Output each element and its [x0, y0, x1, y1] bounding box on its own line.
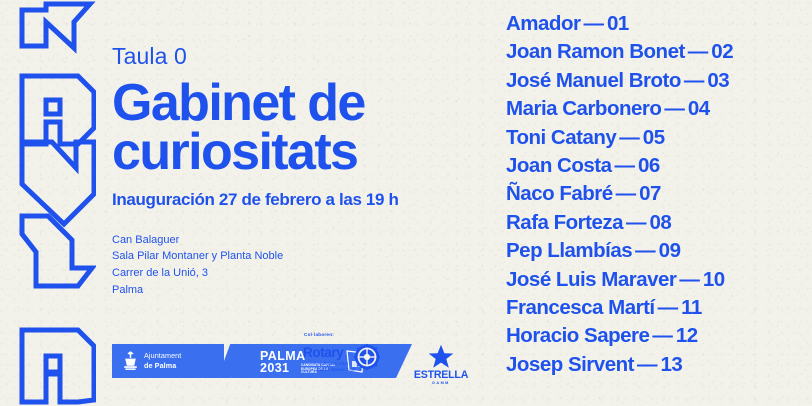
artist-number: 08: [650, 211, 672, 234]
collaborator-logos: Rotary: [303, 344, 483, 380]
venue-address-block: Can Balaguer Sala Pilar Montaner y Plant…: [112, 232, 482, 299]
venue-line: Sala Pilar Montaner y Planta Noble: [112, 248, 482, 265]
artist-dash: —: [658, 296, 679, 319]
artist-dash: —: [619, 126, 640, 149]
artist-row: Pep Llambías—09: [506, 237, 806, 265]
left-text-column: Taula 0 Gabinet de curiositats Inaugurac…: [112, 44, 482, 299]
artist-row: Joan Ramon Bonet—02: [506, 38, 806, 66]
palma-2031-logo: PALMA 2031 CANDIDATA CAPITAL EUROPEA DE …: [260, 351, 306, 374]
star-icon: [428, 344, 454, 369]
artist-dash: —: [688, 40, 709, 63]
rotary-wordmark: Rotary: [303, 346, 343, 360]
artist-number: 07: [639, 182, 661, 205]
rotary-subtitle: Rotary Club Palma Ramón Llull: [303, 361, 369, 372]
artist-number: 09: [659, 239, 681, 262]
collaborators-label: Col·laboren:: [304, 332, 483, 337]
artist-dash: —: [679, 268, 700, 291]
artist-name: Joan Costa: [506, 154, 612, 177]
ajuntament-line1: Ajuntament: [144, 351, 181, 360]
artist-name: Maria Carbonero: [506, 97, 661, 120]
artist-dash: —: [664, 97, 685, 120]
artist-number: 13: [660, 353, 682, 376]
artist-name: Francesca Martí: [506, 296, 655, 319]
rotary-club-logo: Rotary: [303, 344, 381, 378]
palma-crest-icon: [122, 350, 139, 371]
artist-dash: —: [635, 239, 656, 262]
artist-row: Horacio Sapere—12: [506, 322, 806, 350]
artist-name: Pep Llambías: [506, 239, 632, 262]
artist-name: Josep Sirvent: [506, 353, 634, 376]
artist-number: 10: [703, 268, 725, 291]
artist-row: Ñaco Fabré—07: [506, 180, 806, 208]
artist-name: Rafa Forteza: [506, 211, 623, 234]
artist-row: Francesca Martí—11: [506, 294, 806, 322]
artist-dash: —: [652, 324, 673, 347]
artist-number: 12: [676, 324, 698, 347]
opening-subtitle: Inauguración 27 de febrero a las 19 h: [112, 191, 482, 210]
artist-number: 01: [607, 12, 629, 35]
artist-row: Maria Carbonero—04: [506, 95, 806, 123]
artist-row: Rafa Forteza—08: [506, 209, 806, 237]
estrella-damm-logo: ESTRELLA DAMM: [411, 344, 471, 380]
artist-number: 06: [638, 154, 660, 177]
kicker-taula-0: Taula 0: [112, 44, 482, 69]
ajuntament-wordmark: Ajuntament de Palma: [144, 351, 181, 370]
artist-list: Amador—01 Joan Ramon Bonet—02 José Manue…: [506, 10, 806, 379]
poster-canvas: Taula 0 Gabinet de curiositats Inaugurac…: [0, 0, 812, 406]
artist-number: 04: [688, 97, 710, 120]
palma2031-line2: 2031: [260, 362, 306, 374]
venue-line: Can Balaguer: [112, 232, 482, 249]
artist-number: 05: [643, 126, 665, 149]
damm-wordmark: DAMM: [411, 381, 471, 386]
ajuntament-line2: de Palma: [144, 361, 181, 370]
artist-row: Amador—01: [506, 10, 806, 38]
artist-name: Joan Ramon Bonet: [506, 40, 685, 63]
artist-row: Toni Catany—05: [506, 124, 806, 152]
rotary-sub-line2: Palma Ramón Llull: [303, 367, 369, 373]
artist-number: 02: [711, 40, 733, 63]
artist-name: Amador: [506, 12, 580, 35]
artist-row: José Manuel Broto—03: [506, 67, 806, 95]
page-title: Gabinet de curiositats: [112, 79, 482, 177]
ajuntament-de-palma-logo: Ajuntament de Palma: [122, 350, 181, 371]
collaborators-block: Col·laboren: Rotary: [303, 332, 483, 380]
taula-vertical-wordmark: [18, 0, 96, 406]
artist-row: Joan Costa—06: [506, 152, 806, 180]
artist-name: Horacio Sapere: [506, 324, 649, 347]
artist-dash: —: [637, 353, 658, 376]
artist-name: José Manuel Broto: [506, 69, 681, 92]
artist-dash: —: [684, 69, 705, 92]
estrella-wordmark: ESTRELLA: [411, 370, 471, 381]
artist-row: Josep Sirvent—13: [506, 351, 806, 379]
artist-name: Ñaco Fabré: [506, 182, 613, 205]
venue-line: Carrer de la Unió, 3: [112, 265, 482, 282]
artist-name: Toni Catany: [506, 126, 616, 149]
venue-line: Palma: [112, 282, 482, 299]
artist-name: José Luis Maraver: [506, 268, 676, 291]
artist-dash: —: [615, 154, 636, 177]
artist-dash: —: [626, 211, 647, 234]
artist-number: 03: [707, 69, 729, 92]
artist-dash: —: [616, 182, 637, 205]
artist-number: 11: [681, 296, 702, 319]
artist-row: José Luis Maraver—10: [506, 266, 806, 294]
artist-dash: —: [583, 12, 604, 35]
